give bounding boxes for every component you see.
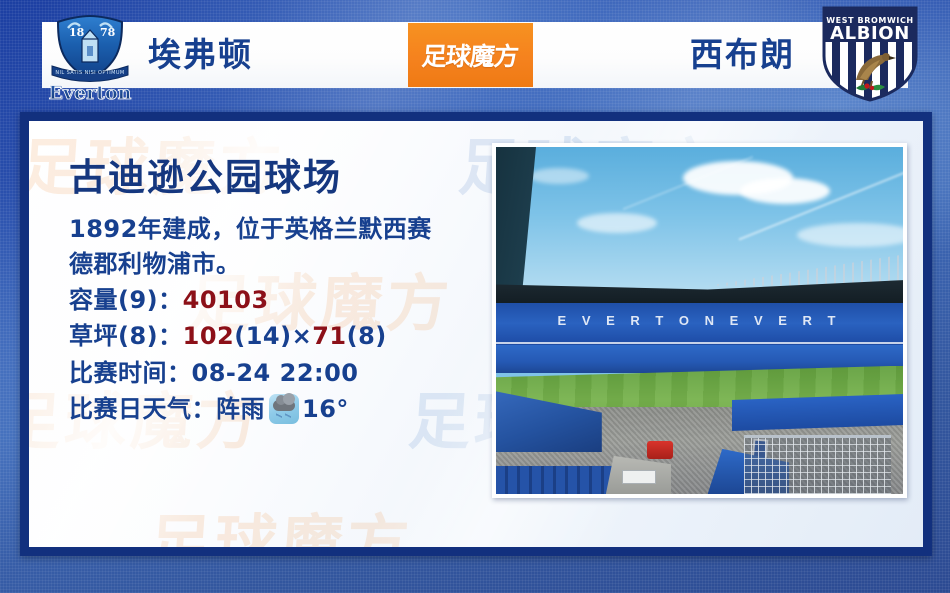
pitch-multiply-symbol: × [292, 318, 313, 354]
advertising-hoarding [732, 394, 903, 431]
cloud [577, 213, 657, 233]
content-frame: 足球魔方 足球魔方 足球魔方 足球魔方 足球魔方 足球魔方 古迪逊公园球场 18… [20, 112, 932, 556]
stadium-info: 古迪逊公园球场 1892年建成，位于英格兰默西赛 德郡利物浦市。 容量(9)： … [69, 147, 432, 427]
weather-row: 比赛日天气： 阵雨 16° [69, 391, 432, 427]
stadium-title: 古迪逊公园球场 [69, 147, 432, 201]
capacity-row: 容量(9)： 40103 [69, 282, 432, 318]
goodison-park-photo: E V E R T O N E V E R T [496, 147, 903, 494]
weather-temperature: 16° [302, 391, 349, 427]
capacity-label: 容量(9)： [69, 282, 183, 318]
watermark: 足球魔方 [146, 493, 416, 547]
seat-row [496, 466, 618, 494]
match-preview-card: 18 78 NIL SATIS NISI OPTIMUM Everton 埃弗顿… [0, 0, 950, 593]
weather-condition: 阵雨 [216, 391, 265, 427]
brand-logo-text: 足球魔方 [421, 37, 520, 73]
match-time-row: 比赛时间： 08-24 22:00 [69, 355, 432, 391]
brand-logo[interactable]: 足球魔方 [408, 23, 533, 87]
cloud [529, 168, 589, 184]
pitch-length: 102 [183, 318, 235, 354]
red-cable-drum [647, 441, 673, 459]
capacity-value: 40103 [183, 282, 269, 318]
pitch-width-rating: (8) [347, 318, 387, 354]
stadium-description: 1892年建成，位于英格兰默西赛 德郡利物浦市。 [69, 212, 432, 282]
west-bromwich-albion-crest[interactable]: WEST BROMWICH ALBION [816, 4, 924, 104]
everton-wordmark: Everton [49, 82, 132, 104]
pitch-label: 草坪(8)： [69, 318, 183, 354]
info-panel: 足球魔方 足球魔方 足球魔方 足球魔方 足球魔方 足球魔方 古迪逊公园球场 18… [29, 121, 923, 547]
stadium-description-line-2: 德郡利物浦市。 [69, 247, 432, 282]
pitch-length-rating: (14) [234, 318, 291, 354]
everton-year-right: 78 [100, 26, 116, 39]
stadium-photo-frame[interactable]: E V E R T O N E V E R T [492, 143, 907, 498]
stand-rail [496, 342, 903, 344]
everton-year-left: 18 [69, 26, 85, 39]
pitch-row: 草坪(8)： 102 (14) × 71 (8) [69, 318, 432, 354]
pitch-width: 71 [312, 318, 346, 354]
weather-label: 比赛日天气： [69, 391, 216, 427]
match-time-value: 08-24 22:00 [192, 355, 359, 391]
notice-sign [622, 470, 656, 484]
stand-lettering: E V E R T O N E V E R T [496, 308, 903, 332]
home-team-name: 埃弗顿 [148, 22, 253, 88]
wba-line-2: ALBION [830, 23, 910, 44]
svg-text:NIL SATIS NISI OPTIMUM: NIL SATIS NISI OPTIMUM [55, 70, 124, 76]
away-team-name: 西布朗 [690, 22, 795, 88]
mesh-fence [744, 435, 891, 494]
rain-shower-icon [269, 394, 299, 424]
match-time-label: 比赛时间： [69, 355, 192, 391]
stadium-description-line-1: 1892年建成，位于英格兰默西赛 [69, 212, 432, 247]
everton-crest[interactable]: 18 78 NIL SATIS NISI OPTIMUM Everton [38, 6, 142, 104]
